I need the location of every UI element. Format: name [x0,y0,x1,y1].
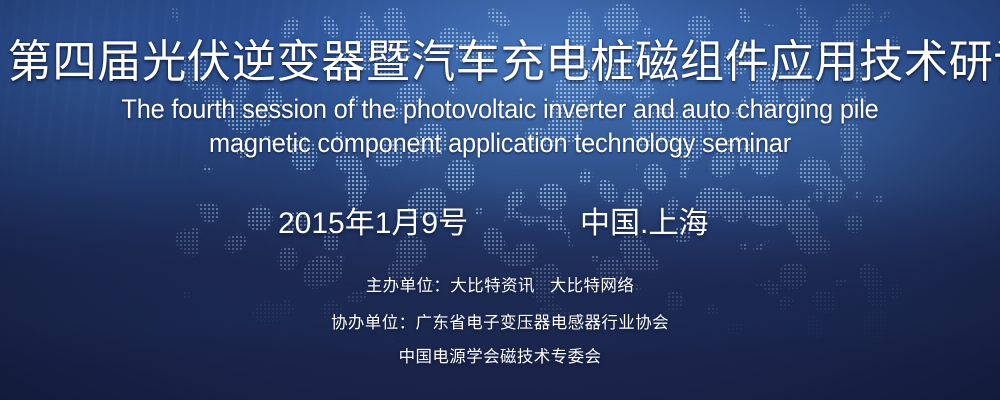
organizer-line-coorganizer: 协办单位：广东省电子变压器电感器行业协会 [0,308,1000,339]
banner-subtitle-english: The fourth session of the photovoltaic i… [0,92,1000,160]
banner-content: 第四届光伏逆变器暨汽车充电桩磁组件应用技术研讨会 The fourth sess… [0,0,1000,400]
conference-banner: 第四届光伏逆变器暨汽车充电桩磁组件应用技术研讨会 The fourth sess… [0,0,1000,400]
event-location: 中国.上海 [580,205,708,243]
banner-subtitle-line-2: magnetic component application technolog… [30,126,970,160]
organizer-line-host: 主办单位：大比特资讯 大比特网络 [0,271,1000,302]
organizer-block: 主办单位：大比特资讯 大比特网络 协办单位：广东省电子变压器电感器行业协会 中国… [0,271,1000,373]
banner-subtitle-line-1: The fourth session of the photovoltaic i… [30,92,970,126]
banner-title-chinese: 第四届光伏逆变器暨汽车充电桩磁组件应用技术研讨会 [8,36,993,88]
banner-meta-row: 2015年1月9号 中国.上海 [0,205,1000,245]
organizer-line-coorganizer-secondary: 中国电源学会磁技术专委会 [0,342,1000,373]
event-date: 2015年1月9号 [278,205,468,243]
